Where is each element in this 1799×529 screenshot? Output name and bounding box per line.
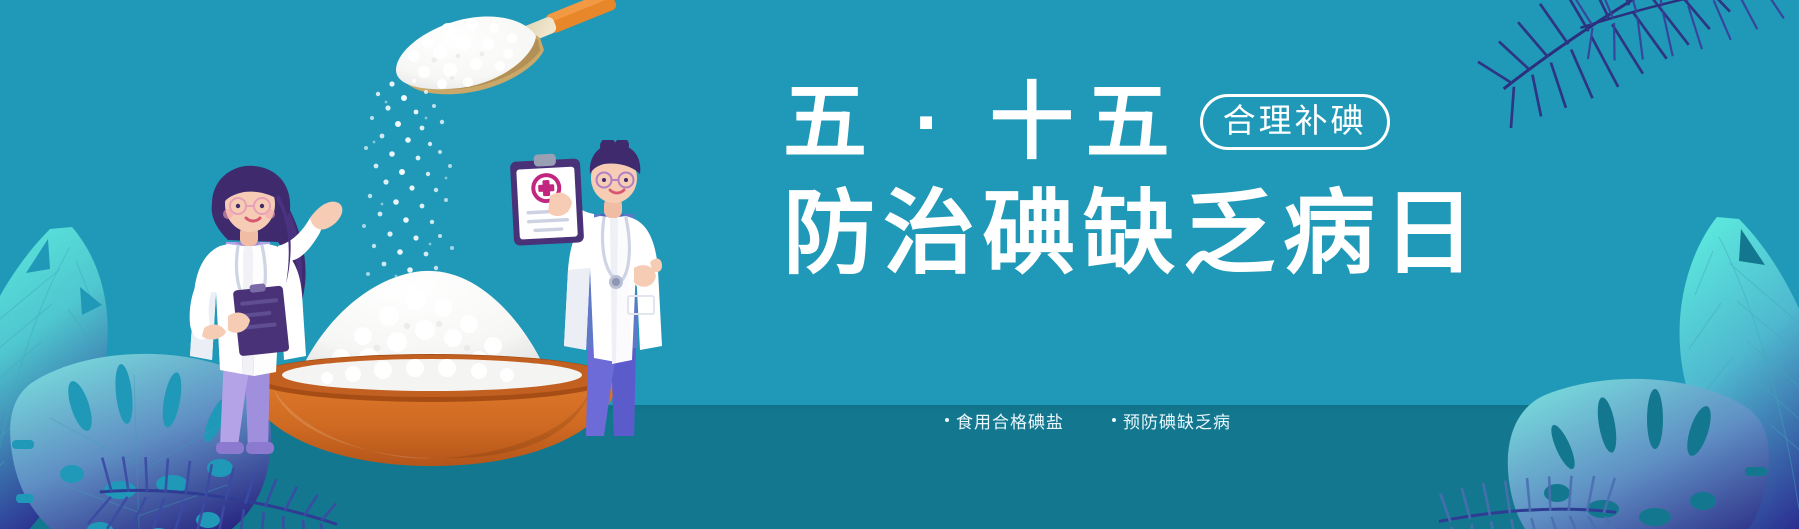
subtitle-item-2: 预防碘缺乏病 bbox=[1112, 408, 1231, 433]
wooden-spoon-with-salt bbox=[352, 0, 620, 104]
headline-block: 五 · 十五 合理补碘 防治碘缺乏病日 bbox=[783, 76, 1423, 286]
foliage-top-right bbox=[1459, 0, 1799, 210]
subtitle-item-2-label: 预防碘缺乏病 bbox=[1123, 408, 1231, 433]
subtitle-item-1: 食用合格碘盐 bbox=[945, 408, 1064, 433]
male-doctor bbox=[500, 140, 680, 440]
subtitle-item-1-label: 食用合格碘盐 bbox=[956, 408, 1064, 433]
bullet-dot-icon bbox=[945, 418, 949, 422]
bullet-dot-icon bbox=[1112, 418, 1116, 422]
slogan-badge: 合理补碘 bbox=[1200, 94, 1390, 151]
subtitle-list: 食用合格碘盐 预防碘缺乏病 bbox=[945, 400, 1505, 440]
female-doctor bbox=[150, 160, 350, 460]
headline-title: 防治碘缺乏病日 bbox=[783, 182, 1423, 286]
headline-line-1-row: 五 · 十五 合理补碘 bbox=[783, 76, 1423, 168]
headline-date: 五 · 十五 bbox=[783, 76, 1182, 168]
iodine-deficiency-day-banner: 五 · 十五 合理补碘 防治碘缺乏病日 食用合格碘盐 预防碘缺乏病 bbox=[0, 0, 1799, 529]
